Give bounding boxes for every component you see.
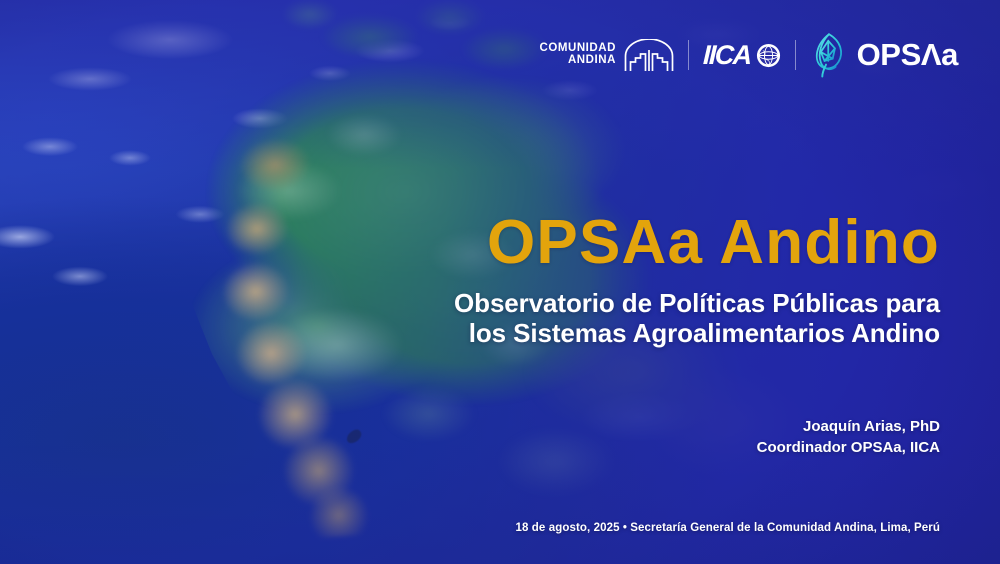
opsaa-wordmark-pre: OPS bbox=[857, 37, 921, 73]
page-title: OPSAa Andino bbox=[487, 212, 940, 274]
footer-event-line: 18 de agosto, 2025 • Secretaría General … bbox=[516, 522, 941, 534]
opsaa-wordmark-lambda: Λ bbox=[921, 37, 941, 73]
title-slide: COMUNIDAD ANDINA IICA bbox=[0, 0, 1000, 564]
slide-content: OPSAa Andino Observatorio de Políticas P… bbox=[320, 0, 940, 564]
subtitle-line-2: los Sistemas Agroalimentarios Andino bbox=[454, 318, 940, 348]
can-wordmark: COMUNIDAD ANDINA bbox=[539, 43, 616, 67]
opsaa-wordmark: OPSΛa bbox=[857, 37, 958, 73]
logo-comunidad-andina[interactable]: COMUNIDAD ANDINA bbox=[539, 39, 674, 72]
author-role: Coordinador OPSAa, IICA bbox=[757, 437, 940, 458]
opsaa-wordmark-post: a bbox=[941, 37, 958, 73]
page-subtitle: Observatorio de Políticas Públicas para … bbox=[454, 288, 940, 349]
logo-divider-1 bbox=[688, 40, 689, 70]
can-line-2: ANDINA bbox=[568, 55, 616, 67]
andean-arch-icon bbox=[624, 39, 674, 72]
author-name: Joaquín Arias, PhD bbox=[757, 416, 940, 437]
logo-opsaa[interactable]: OPSΛa bbox=[810, 32, 958, 78]
logo-divider-2 bbox=[795, 40, 796, 70]
logo-iica[interactable]: IICA bbox=[703, 40, 781, 71]
globe-icon bbox=[756, 43, 781, 68]
author-block: Joaquín Arias, PhD Coordinador OPSAa, II… bbox=[757, 416, 940, 459]
leaf-icon bbox=[810, 32, 848, 78]
iica-wordmark: IICA bbox=[702, 40, 751, 71]
subtitle-line-1: Observatorio de Políticas Públicas para bbox=[454, 288, 940, 318]
logo-bar: COMUNIDAD ANDINA IICA bbox=[539, 32, 958, 78]
